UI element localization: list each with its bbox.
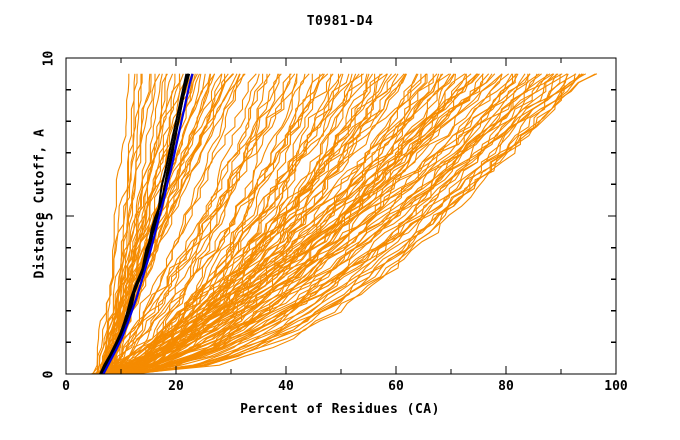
x-tick-label-80: 80 xyxy=(476,379,536,394)
plot-area xyxy=(0,0,680,440)
x-tick-label-20: 20 xyxy=(146,379,206,394)
curve-group-others xyxy=(91,74,597,374)
x-axis-label: Percent of Residues (CA) xyxy=(0,402,680,417)
y-tick-label-10: 10 xyxy=(42,39,57,79)
page-title: T0981-D4 xyxy=(0,14,680,29)
x-tick-label-40: 40 xyxy=(256,379,316,394)
figure-root: T0981-D4 Percent of Residues (CA) Distan… xyxy=(0,0,680,440)
x-tick-label-60: 60 xyxy=(366,379,426,394)
y-tick-label-0: 0 xyxy=(42,355,57,395)
y-tick-label-5: 5 xyxy=(42,197,57,237)
x-tick-label-100: 100 xyxy=(586,379,646,394)
